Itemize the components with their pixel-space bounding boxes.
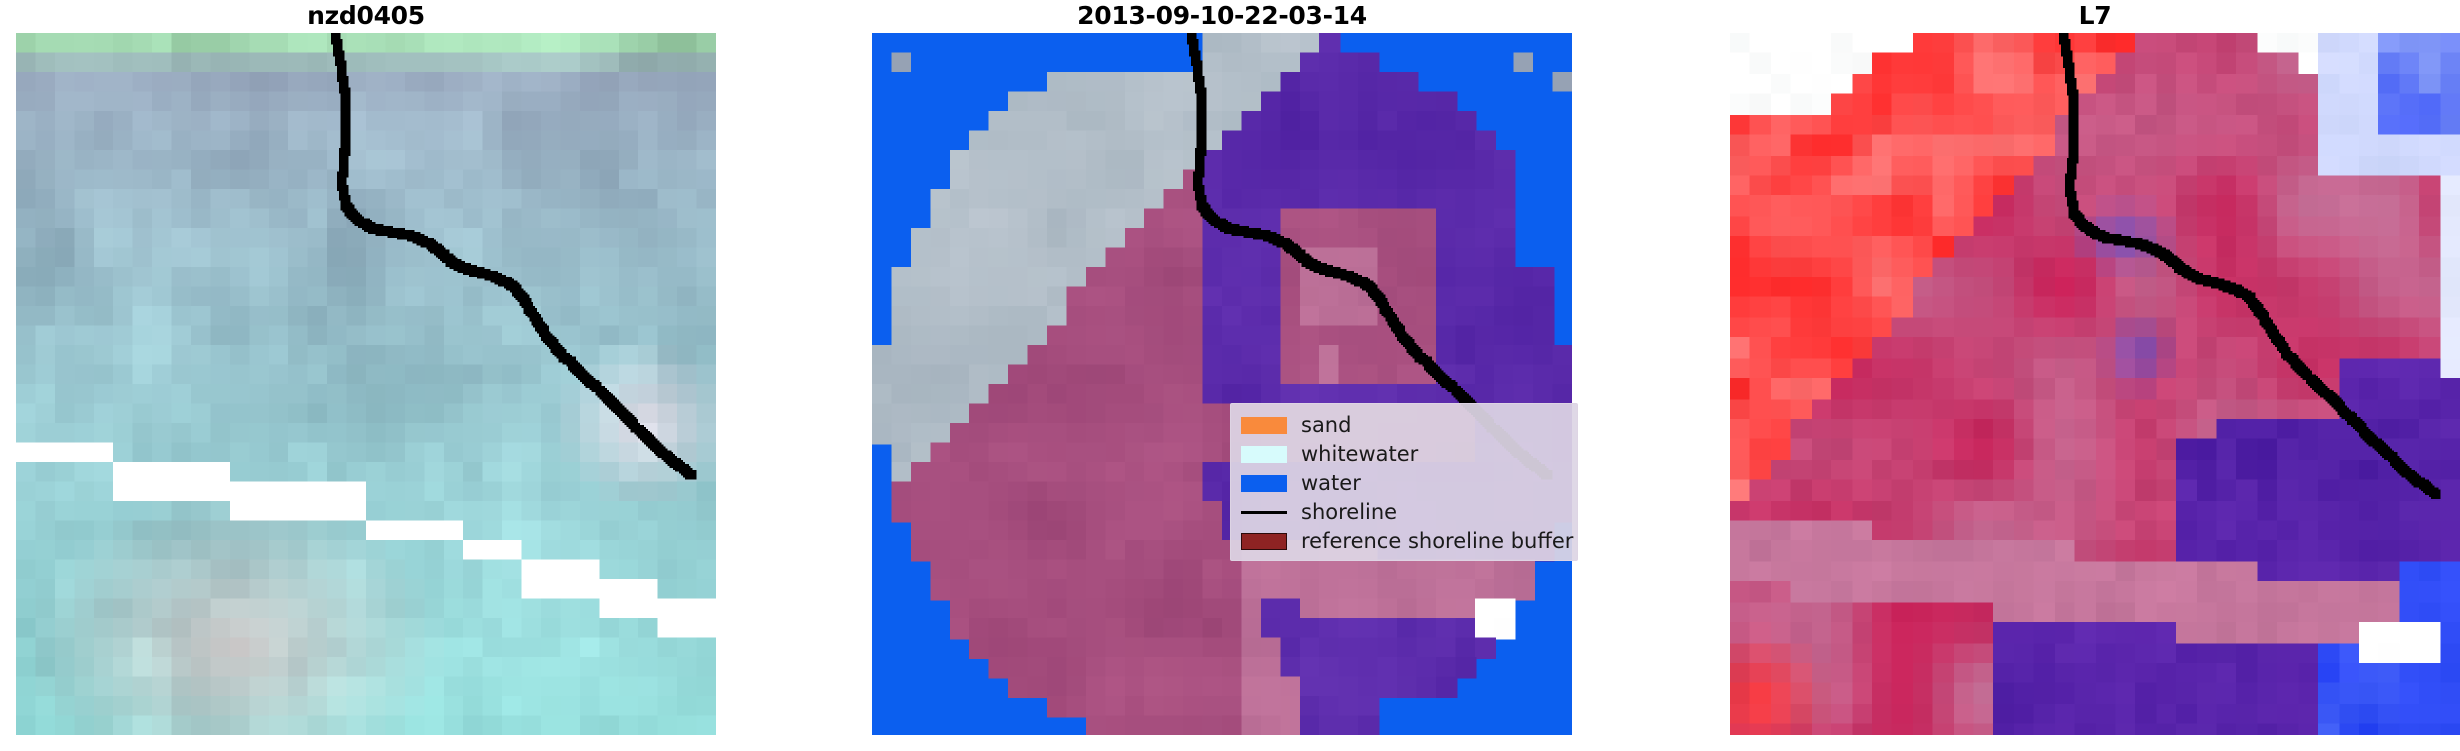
legend: sand whitewater water shoreline referenc… [1230,403,1578,561]
panel-title-index: L7 [1730,2,2460,30]
legend-label-shoreline: shoreline [1301,502,1397,523]
rgb-raster [16,33,716,735]
figure-root: nzd0405 2013-09-10-22-03-14 L7 sand whit… [0,0,2460,751]
legend-item-sand: sand [1231,411,1577,440]
legend-label-whitewater: whitewater [1301,444,1418,465]
legend-label-water: water [1301,473,1361,494]
legend-label-sand: sand [1301,415,1351,436]
panel-title-rgb: nzd0405 [16,2,716,30]
legend-item-whitewater: whitewater [1231,440,1577,469]
index-raster [1730,33,2460,735]
legend-label-reference-shoreline-buffer: reference shoreline buffer [1301,531,1573,552]
water-color-swatch [1241,475,1287,492]
legend-item-shoreline: shoreline [1231,498,1577,527]
shoreline-line-swatch [1241,504,1287,521]
legend-item-water: water [1231,469,1577,498]
panel-classified-image [872,33,1572,735]
panel-rgb-image [16,33,716,735]
classified-raster [872,33,1572,735]
panel-index-image [1730,33,2460,735]
panel-title-classified: 2013-09-10-22-03-14 [872,2,1572,30]
legend-item-reference-shoreline-buffer: reference shoreline buffer [1231,527,1577,556]
reference-shoreline-buffer-color-swatch [1241,533,1287,550]
whitewater-color-swatch [1241,446,1287,463]
sand-color-swatch [1241,417,1287,434]
